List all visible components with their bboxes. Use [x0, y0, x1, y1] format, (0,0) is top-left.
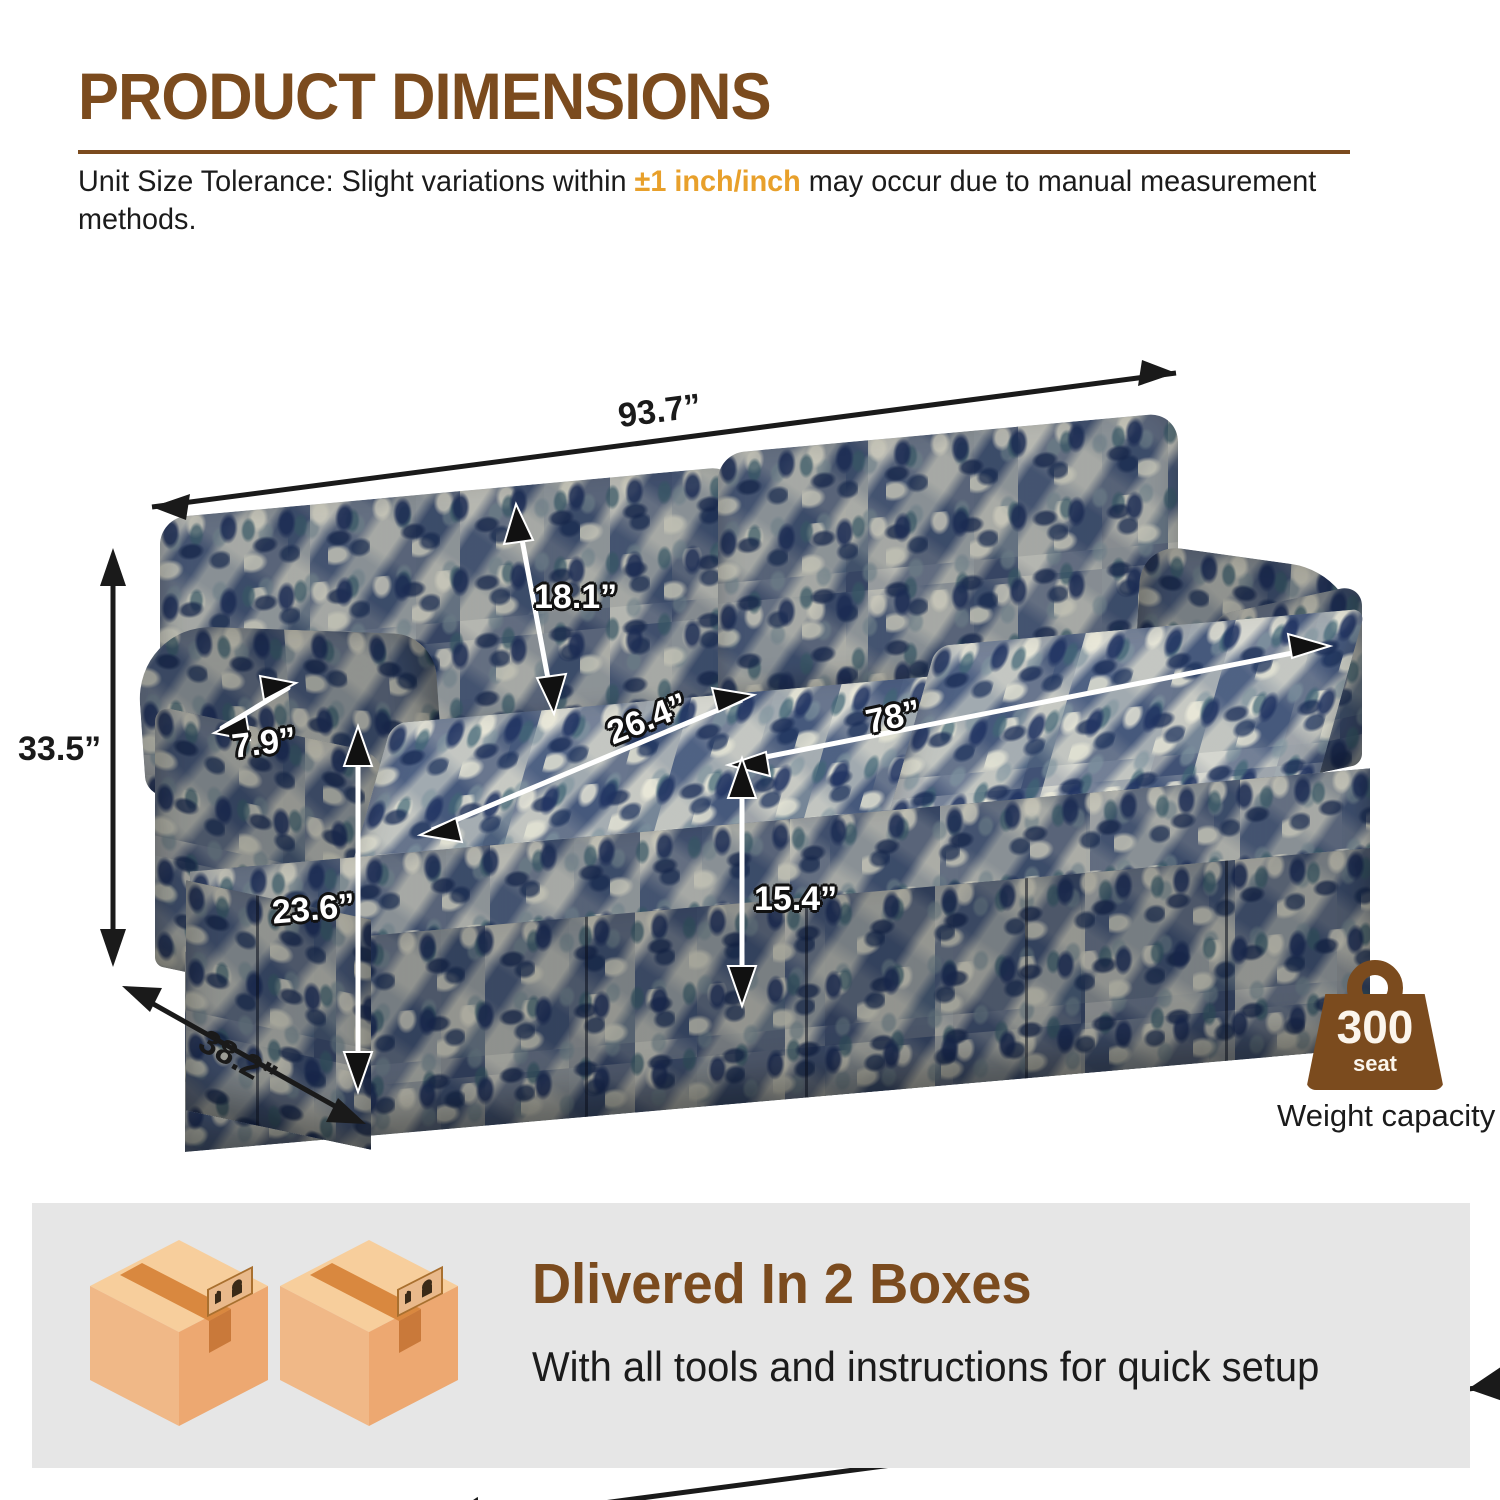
dimension-label-arm-height: 23.6” — [270, 886, 356, 932]
title-divider — [78, 150, 1350, 154]
skirt-pleat — [585, 917, 588, 1117]
tolerance-note: Unit Size Tolerance: Slight variations w… — [78, 163, 1355, 240]
weight-caption: Weight capacity — [1277, 1098, 1457, 1134]
dimension-label-arm-width: 7.9” — [230, 720, 299, 767]
tolerance-prefix: Unit Size Tolerance: Slight variations w… — [78, 165, 635, 198]
package-boxes-illustration — [72, 1228, 472, 1443]
page-title: PRODUCT DIMENSIONS — [78, 58, 771, 134]
dimension-label-overall-height: 33.5” — [18, 730, 101, 769]
header-section: PRODUCT DIMENSIONS Unit Size Tolerance: … — [0, 0, 1500, 270]
dimension-label-seat-height: 15.4” — [754, 880, 837, 919]
package-box-icon — [82, 1236, 277, 1436]
banner-heading: Dlivered In 2 Boxes — [532, 1251, 1032, 1317]
skirt-pleat — [1225, 861, 1228, 1061]
weight-icon: 300 seat — [1300, 960, 1450, 1090]
delivery-banner: Dlivered In 2 Boxes With all tools and i… — [32, 1203, 1470, 1468]
tolerance-highlight: ±1 inch/inch — [635, 165, 801, 198]
package-box-icon — [272, 1236, 467, 1436]
skirt-pleat — [805, 897, 808, 1097]
weight-unit: seat — [1300, 1053, 1450, 1075]
banner-subheading: With all tools and instructions for quic… — [532, 1343, 1319, 1391]
weight-capacity-badge: 300 seat Weight capacity — [1285, 960, 1465, 1134]
dimension-label-back-height: 18.1” — [534, 578, 617, 617]
weight-value: 300 — [1300, 1004, 1450, 1050]
skirt-pleat — [1025, 878, 1028, 1078]
